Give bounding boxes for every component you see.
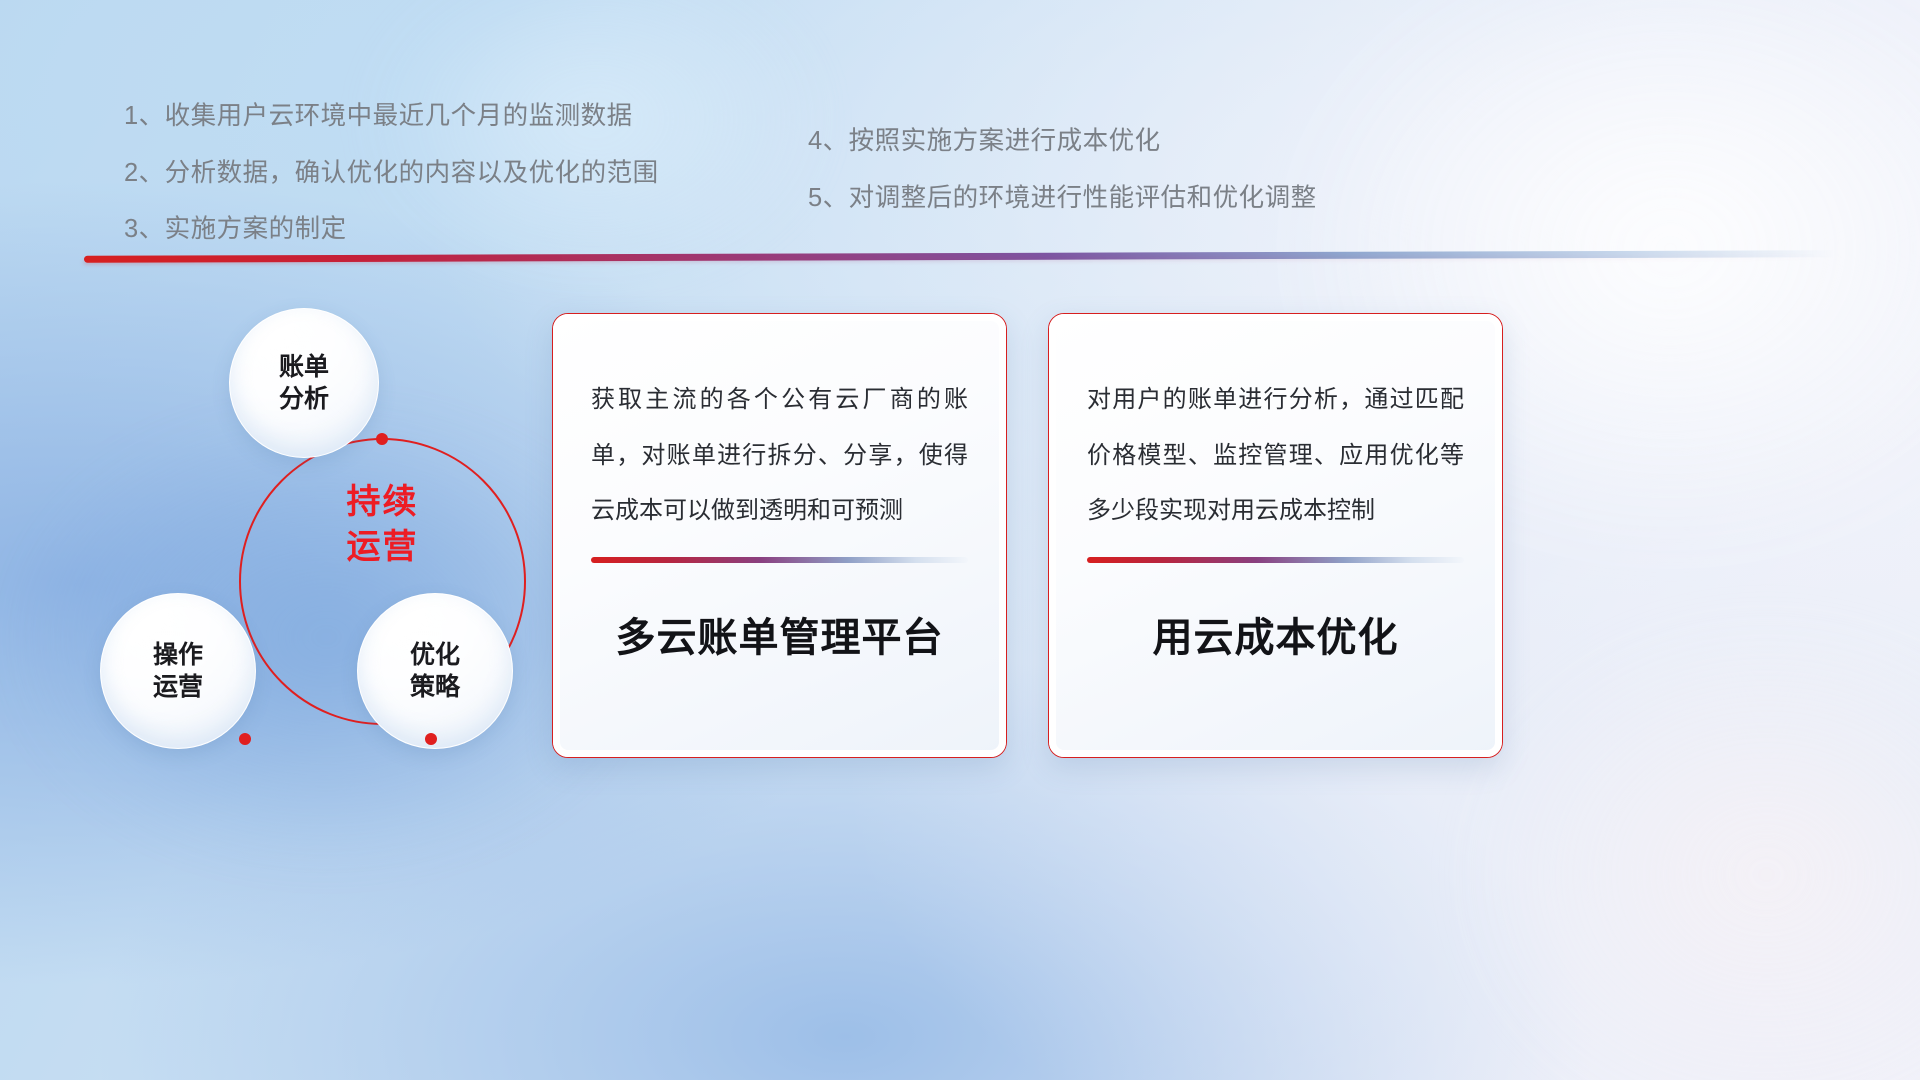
step-item-1: 1、收集用户云环境中最近几个月的监测数据 (124, 104, 659, 130)
step-item-5: 5、对调整后的环境进行性能评估和优化调整 (808, 186, 1317, 212)
diagram-center-label: 持续 运营 (239, 480, 526, 570)
steps-right-column: 4、按照实施方案进行成本优化 5、对调整后的环境进行性能评估和优化调整 (808, 129, 1317, 211)
feature-card-multicloud-billing[interactable]: 获取主流的各个公有云厂商的账单，对账单进行拆分、分享，使得云成本可以做到透明和可… (552, 313, 1007, 758)
center-label-line2: 运营 (239, 525, 526, 570)
card-body-text: 获取主流的各个公有云厂商的账单，对账单进行拆分、分享，使得云成本可以做到透明和可… (587, 372, 972, 539)
steps-left-column: 1、收集用户云环境中最近几个月的监测数据 2、分析数据，确认优化的内容以及优化的… (124, 104, 659, 243)
step-item-2: 2、分析数据，确认优化的内容以及优化的范围 (124, 161, 659, 187)
continuous-operation-diagram: 账单分析 操作运营 优化策略 持续 运营 (82, 290, 552, 770)
card-divider (591, 557, 968, 563)
bubble-label: 操作运营 (153, 639, 203, 704)
card-divider (1087, 557, 1464, 563)
diagram-node-dot-top (376, 433, 388, 445)
diagram-node-dot-right (425, 733, 437, 745)
step-item-3: 3、实施方案的制定 (124, 217, 659, 243)
bubble-label: 账单分析 (279, 351, 329, 416)
card-body-text: 对用户的账单进行分析，通过匹配价格模型、监控管理、应用优化等多少段实现对用云成本… (1083, 372, 1468, 539)
center-label-line1: 持续 (239, 480, 526, 525)
feature-card-cloud-cost-optimization[interactable]: 对用户的账单进行分析，通过匹配价格模型、监控管理、应用优化等多少段实现对用云成本… (1048, 313, 1503, 758)
step-item-4: 4、按照实施方案进行成本优化 (808, 129, 1317, 155)
card-title: 用云成本优化 (1083, 605, 1468, 663)
diagram-bubble-optimization-strategy[interactable]: 优化策略 (357, 593, 513, 749)
diagram-bubble-bill-analysis[interactable]: 账单分析 (229, 308, 379, 458)
diagram-bubble-operation[interactable]: 操作运营 (100, 593, 256, 749)
card-title: 多云账单管理平台 (587, 605, 972, 663)
diagram-node-dot-left (239, 733, 251, 745)
bubble-label: 优化策略 (410, 639, 460, 704)
